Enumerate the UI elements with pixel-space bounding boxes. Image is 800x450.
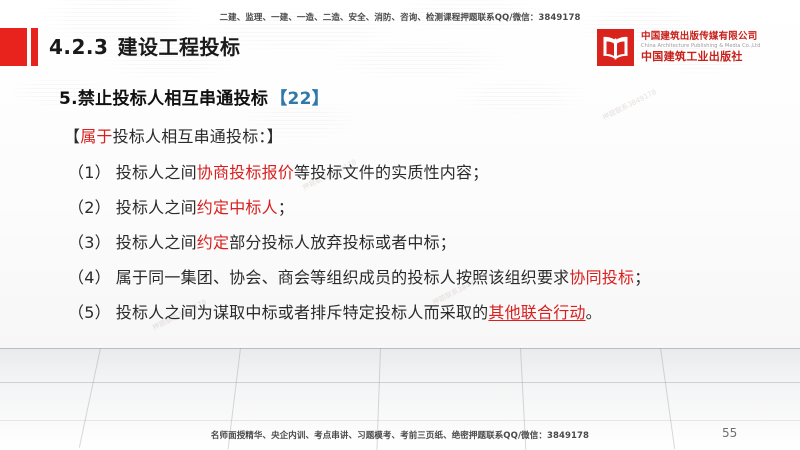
list-item-after: 。: [586, 303, 602, 322]
list-item-after: 部分投标人放弃投标或者中标；: [229, 233, 456, 252]
publisher-logo-text: 中国建筑出版传媒有限公司 China Architecture Publishi…: [641, 31, 760, 64]
publisher-company-cn: 中国建筑出版传媒有限公司: [641, 31, 760, 43]
publisher-press-cn: 中国建筑工业出版社: [641, 50, 760, 64]
list-item: （3）投标人之间约定部分投标人放弃投标或者中标；: [68, 229, 456, 253]
list-item-after: ；: [278, 198, 294, 217]
list-item: （1）投标人之间协商投标报价等投标文件的实质性内容；: [68, 159, 488, 183]
slide-title-number: 4.2.3: [49, 35, 108, 59]
list-item-index: （4）: [68, 268, 111, 287]
publisher-logo: 中国建筑出版传媒有限公司 China Architecture Publishi…: [597, 29, 760, 66]
list-item-before: 属于同一集团、协会、商会等组织成员的投标人按照该组织要求: [116, 268, 570, 287]
publisher-company-en: China Architecture Publishing & Media Co…: [641, 43, 760, 50]
book-logo-icon: [597, 29, 634, 66]
slide-title: 4.2.3建设工程投标: [49, 31, 240, 60]
intro-rest: 投标人相互串通投标：: [113, 127, 267, 146]
page-number: 55: [722, 426, 737, 440]
list-item-highlight: 约定中标人: [197, 198, 278, 217]
footer-watermark-text: 名师面授精华、央企内训、考点串讲、习题模考、考前三页纸、绝密押题联系QQ/微信：…: [0, 429, 800, 441]
list-item-before: 投标人之间: [116, 163, 197, 182]
list-item-index: （5）: [68, 303, 111, 322]
header-watermark-text: 二建、监理、一建、一造、二造、安全、消防、咨询、检测课程押题联系QQ/微信：38…: [0, 11, 800, 23]
list-item-after: ；: [634, 268, 650, 287]
list-item-before: 投标人之间: [116, 198, 197, 217]
list-item: （5）投标人之间为谋取中标或者排斥特定投标人而采取的其他联合行动。: [68, 299, 602, 323]
section-heading-text: 5.禁止投标人相互串通投标: [59, 89, 268, 109]
list-item-highlight: 协商投标报价: [197, 163, 294, 182]
presentation-slide: 二建、监理、一建、一造、二造、安全、消防、咨询、检测课程押题联系QQ/微信：38…: [0, 0, 800, 450]
intro-close-bracket: 】: [267, 127, 283, 146]
list-item-highlight: 约定: [197, 233, 229, 252]
intro-highlight: 属于: [80, 127, 112, 146]
intro-line: 【属于投标人相互串通投标：】: [64, 123, 283, 147]
list-item-highlight: 其他联合行动: [488, 303, 585, 322]
list-item: （4）属于同一集团、协会、商会等组织成员的投标人按照该组织要求协同投标；: [68, 264, 650, 288]
list-item-index: （1）: [68, 163, 111, 182]
section-heading: 5.禁止投标人相互串通投标【22】: [59, 84, 329, 109]
list-item-before: 投标人之间为谋取中标或者排斥特定投标人而采取的: [116, 303, 489, 322]
list-item-before: 投标人之间: [116, 233, 197, 252]
list-item: （2）投标人之间约定中标人；: [68, 194, 294, 218]
title-accent-bar-thin: [31, 28, 38, 66]
list-item-after: 等投标文件的实质性内容；: [294, 163, 488, 182]
section-heading-reference: 【22】: [270, 89, 329, 109]
title-accent-bar-wide: [0, 28, 27, 66]
list-item-index: （3）: [68, 233, 111, 252]
intro-open-bracket: 【: [64, 127, 80, 146]
list-item-highlight: 协同投标: [569, 268, 634, 287]
list-item-index: （2）: [68, 198, 111, 217]
slide-title-text: 建设工程投标: [117, 35, 240, 59]
